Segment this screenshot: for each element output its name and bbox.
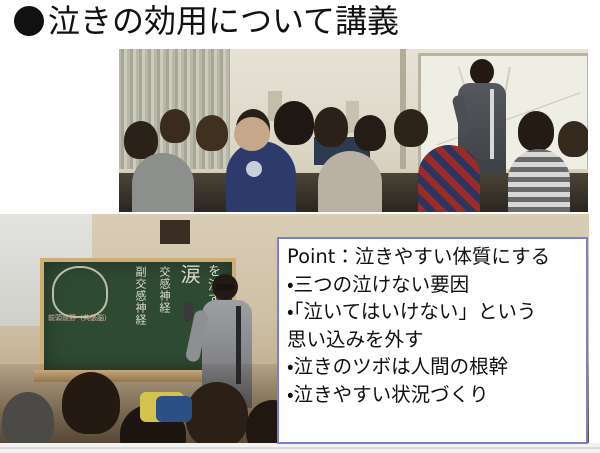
instructor-glasses [216,284,234,291]
audience-head [354,115,386,151]
audience-head [314,107,348,147]
audience-person-blue-shirt [226,141,296,212]
point-text-box-content: Point：泣きやすい体質にする ・三つの泣けない要因 ・「泣いてはいけない」と… [287,243,582,408]
page-title: 泣きの効用について講義 [14,3,399,39]
audience-head [196,115,228,151]
point-line-3: ・泣きのツボは人間の根幹 [287,353,582,381]
audience-person-beige [318,151,382,212]
point-line-1: ・三つの泣けない要因 [287,271,582,299]
audience-head [186,382,248,443]
point-line-2: ・「泣いてはいけない」という [287,298,582,326]
audience-head [124,121,158,159]
audience-head-bald [234,117,270,151]
audience-head [2,392,54,443]
audience-person-striped-shirt [508,149,570,212]
audience-head [62,372,120,434]
presenter-head [470,59,494,85]
point-text-box: Point：泣きやすい体質にする ・三つの泣けない要因 ・「泣いてはいけない」と… [277,237,588,444]
blackboard-column-koukan: 交感神経 [158,266,171,314]
slide-canvas: 前頭前野（共感脳） 副交感神経 交感神経 涙 を流す [0,0,600,453]
blackboard-column-fukukoukan: 副交感神経 [134,266,147,326]
audience-bag [156,396,192,422]
ceiling-monitor [160,220,190,244]
page-title-text: 泣きの効用について講義 [48,3,399,39]
white-mask-left [0,42,119,214]
audience-head [558,121,588,157]
blackboard-column-namida: 涙 [182,264,195,284]
point-line-2-cont: 思い込みを外す [287,326,582,354]
audience-head [394,109,428,147]
blackboard-brain-sketch [52,266,108,318]
audience-head [518,111,554,151]
audience-person-plaid-shirt [418,145,480,212]
filled-circle-bullet-icon [14,6,44,36]
lecture-hall-audience-photo [118,49,588,212]
audience-person-gray [132,153,194,212]
point-line-heading: Point：泣きやすい体質にする [287,243,582,271]
blackboard-label-frontal-lobe: 前頭前野（共感脳） [48,314,111,322]
microphone [184,302,193,322]
shirt-logo [246,161,262,177]
slide-bottom-strip [0,443,600,453]
audience-head [274,101,314,145]
presenter-jacket-stripe [490,89,494,159]
point-line-4: ・泣きやすい状況づくり [287,381,582,409]
audience-head [160,109,190,143]
